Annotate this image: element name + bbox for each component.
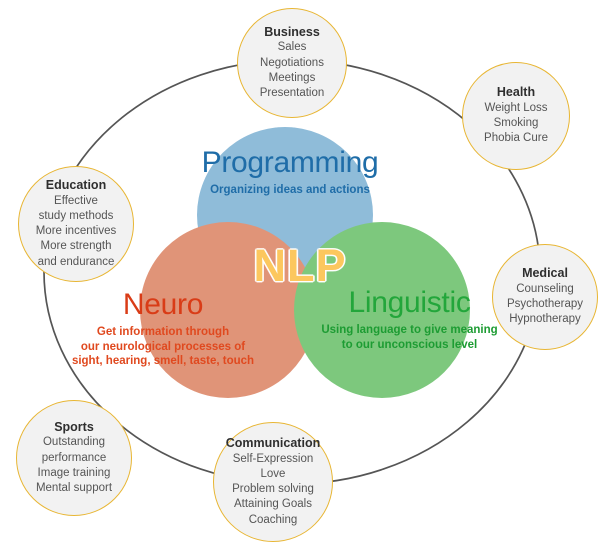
bubble-title-medical: Medical — [522, 266, 568, 282]
bubble-items-communication: Self-Expression Love Problem solving Att… — [232, 452, 314, 528]
nlp-venn-diagram: Programming Organizing ideas and actions… — [0, 0, 600, 550]
bubble-title-education: Education — [46, 178, 106, 194]
bubble-title-health: Health — [497, 85, 535, 101]
bubble-business[interactable]: Business Sales Negotiations Meetings Pre… — [237, 8, 347, 118]
venn-circle-linguistic — [294, 222, 470, 398]
bubble-items-sports: Outstanding performance Image training M… — [36, 435, 112, 496]
bubble-title-business: Business — [264, 25, 320, 41]
bubble-items-education: Effective study methods More incentives … — [36, 194, 117, 270]
bubble-items-health: Weight Loss Smoking Phobia Cure — [484, 101, 548, 147]
bubble-health[interactable]: Health Weight Loss Smoking Phobia Cure — [462, 62, 570, 170]
bubble-items-medical: Counseling Psychotherapy Hypnotherapy — [507, 282, 583, 328]
bubble-medical[interactable]: Medical Counseling Psychotherapy Hypnoth… — [492, 244, 598, 350]
bubble-sports[interactable]: Sports Outstanding performance Image tra… — [16, 400, 132, 516]
bubble-title-sports: Sports — [54, 420, 94, 436]
venn-circle-neuro — [140, 222, 316, 398]
bubble-education[interactable]: Education Effective study methods More i… — [18, 166, 134, 282]
bubble-items-business: Sales Negotiations Meetings Presentation — [260, 40, 325, 101]
bubble-title-communication: Communication — [226, 436, 320, 452]
bubble-communication[interactable]: Communication Self-Expression Love Probl… — [213, 422, 333, 542]
